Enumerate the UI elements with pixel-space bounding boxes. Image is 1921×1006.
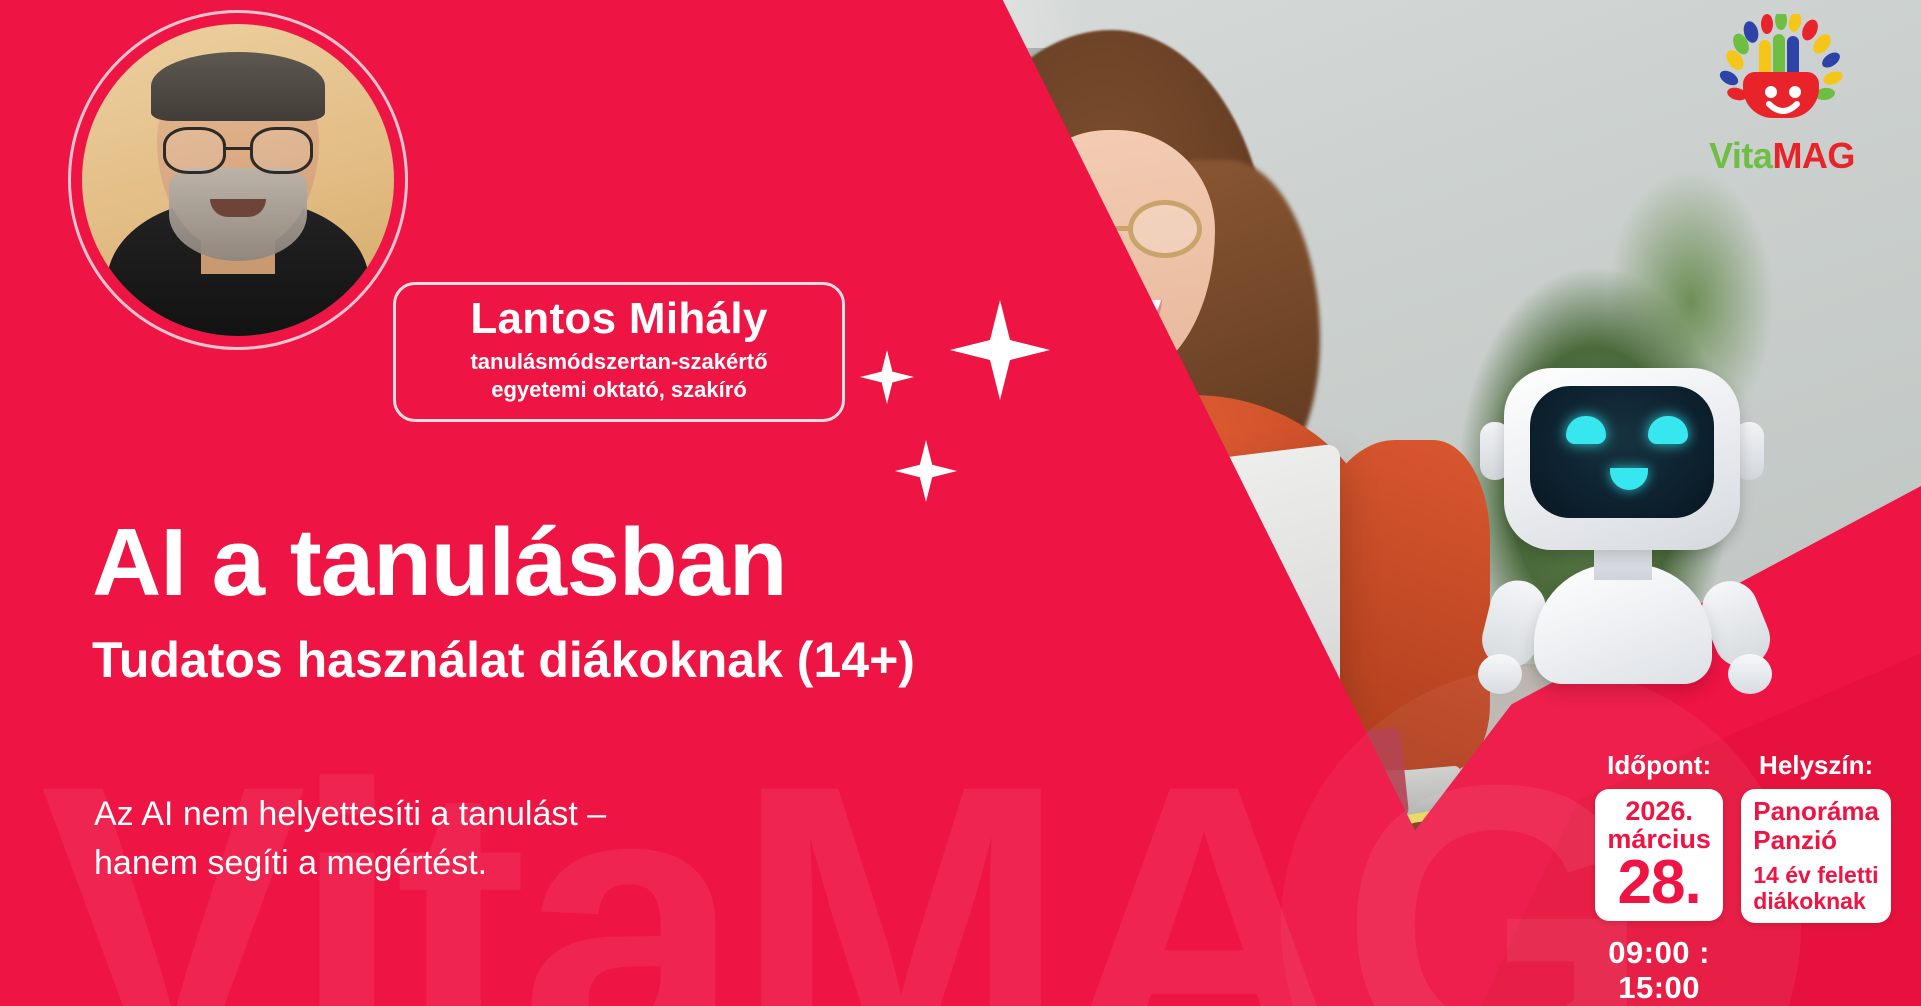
date-label: Időpont:	[1607, 750, 1711, 781]
venue-audience-line-2: diákoknak	[1753, 889, 1879, 915]
lede-line-1: Az AI nem helyettesíti a tanulást –	[94, 790, 606, 839]
venue-chip: Panoráma Panzió 14 év feletti diákoknak	[1741, 789, 1891, 923]
venue-audience-line-1: 14 év feletti	[1753, 863, 1879, 889]
portrait-glasses-icon	[163, 127, 313, 174]
date-year: 2026.	[1607, 797, 1711, 825]
vitamag-hand-logo-icon	[1715, 14, 1847, 126]
logo-wordmark: VitaMAG	[1677, 138, 1887, 174]
speaker-portrait	[82, 24, 394, 336]
time-block: 09:00 : 15:00 szombat	[1591, 935, 1727, 1006]
speaker-role-line-1: tanulásmódszertan-szakértő	[470, 348, 767, 376]
headline-block: AI a tanulásban Tudatos használat diákok…	[92, 515, 915, 688]
robot-mascot-icon	[1472, 368, 1772, 728]
event-poster: VitaMAG Lantos Mihály tanulásmódszertan-…	[0, 0, 1921, 1006]
portrait-image	[82, 24, 394, 336]
logo-word-vita: Vita	[1709, 135, 1772, 176]
date-chip: 2026. március 28.	[1595, 789, 1723, 921]
page-title: AI a tanulásban	[92, 515, 915, 611]
venue-name-line-1: Panoráma	[1753, 797, 1879, 826]
venue-name-line-2: Panzió	[1753, 826, 1879, 855]
event-time: 09:00 : 15:00	[1591, 935, 1727, 1006]
speaker-name: Lantos Mihály	[470, 296, 767, 342]
lede-line-2: hanem segíti a megértést.	[94, 839, 606, 888]
speaker-role-line-2: egyetemi oktató, szakíró	[491, 376, 747, 404]
event-info-block: Időpont: 2026. március 28. 09:00 : 15:00…	[1591, 750, 1891, 1006]
date-column: Időpont: 2026. március 28. 09:00 : 15:00…	[1591, 750, 1727, 1006]
venue-column: Helyszín: Panoráma Panzió 14 év feletti …	[1741, 750, 1891, 1006]
speaker-name-card: Lantos Mihály tanulásmódszertan-szakértő…	[393, 282, 845, 422]
date-day: 28.	[1607, 854, 1711, 913]
venue-label: Helyszín:	[1759, 750, 1873, 781]
lede-block: Az AI nem helyettesíti a tanulást – hane…	[94, 790, 606, 889]
vitamag-logo[interactable]: VitaMAG	[1677, 14, 1887, 174]
page-subtitle: Tudatos használat diákoknak (14+)	[92, 633, 915, 688]
logo-word-mag: MAG	[1772, 135, 1855, 176]
